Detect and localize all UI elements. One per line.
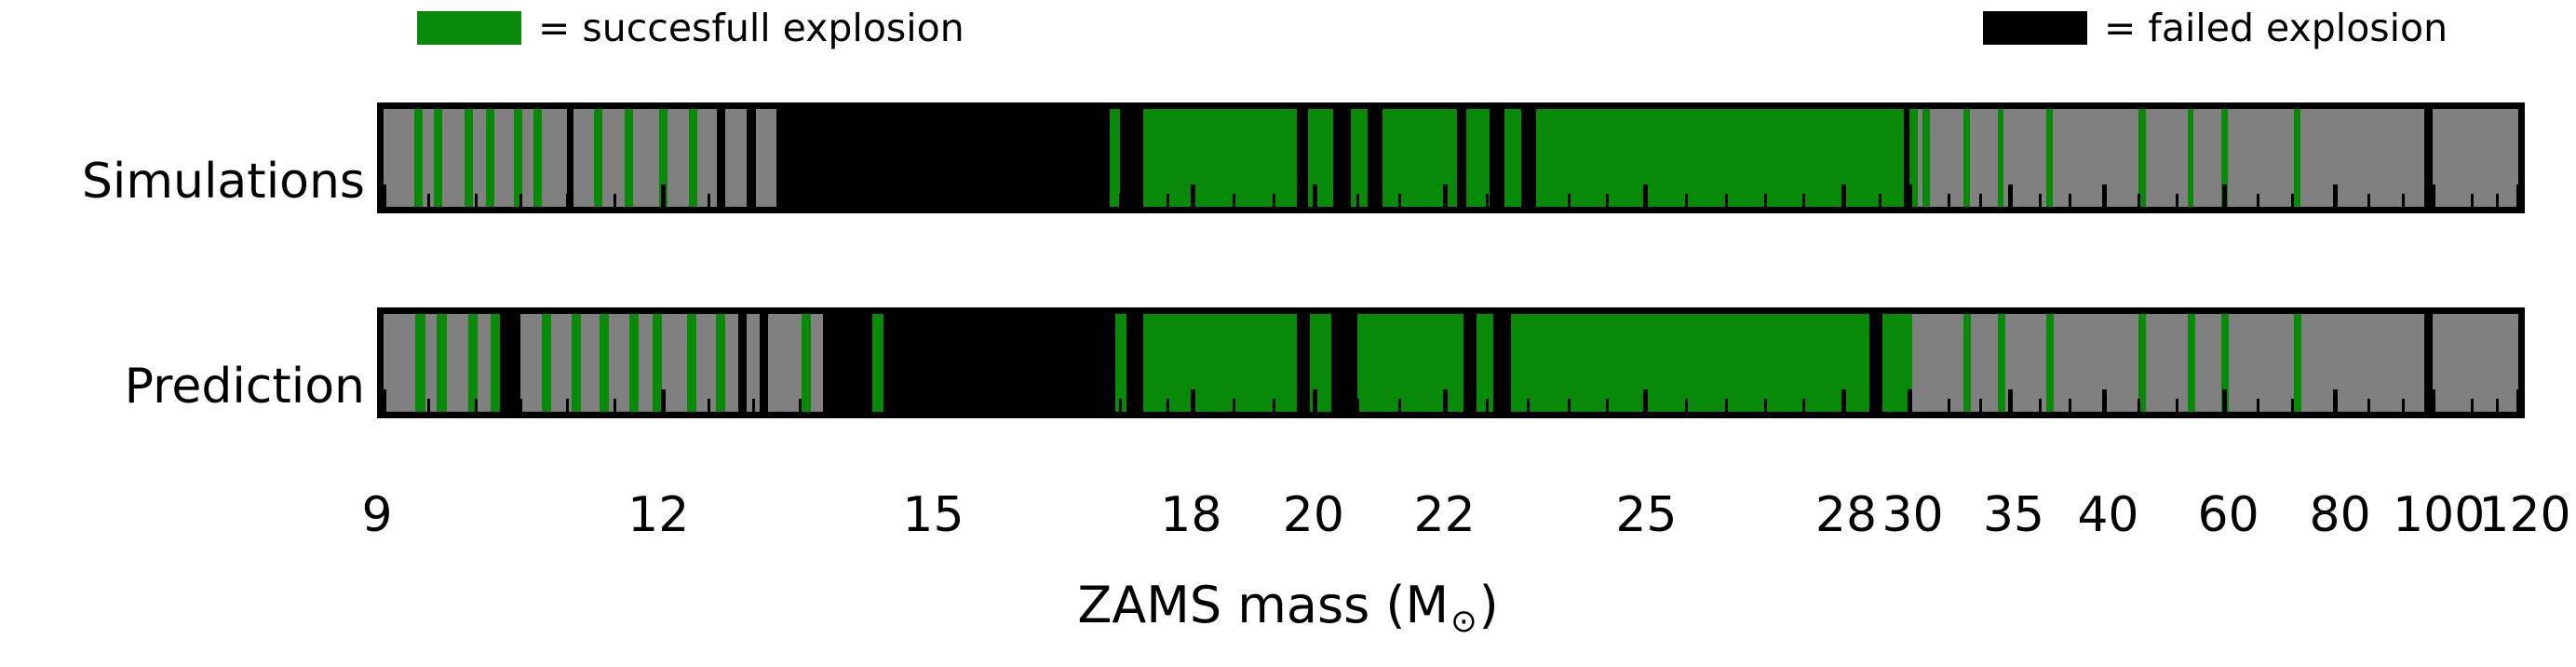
- minor-tick: [2257, 194, 2259, 207]
- x-tick-label: 80: [2310, 491, 2371, 539]
- outcome-band: [629, 314, 639, 412]
- x-tick-label: 9: [361, 491, 392, 539]
- outcome-band: [1463, 314, 1477, 412]
- major-tick: [661, 184, 666, 207]
- outcome-band: [716, 314, 725, 412]
- minor-tick: [614, 399, 616, 412]
- minor-tick: [1167, 194, 1169, 207]
- outcome-band: [434, 109, 442, 207]
- minor-tick: [2367, 194, 2370, 207]
- minor-tick: [1606, 399, 1609, 412]
- x-tick-label: 100: [2393, 491, 2485, 539]
- minor-tick: [1802, 399, 1805, 412]
- major-tick: [1908, 184, 1912, 207]
- legend-entry-failed: = failed explosion: [1983, 7, 2448, 48]
- major-tick: [1643, 184, 1648, 207]
- major-tick: [2333, 184, 2338, 207]
- outcome-band: [1331, 314, 1357, 412]
- outcome-band: [594, 109, 602, 207]
- major-tick: [1313, 184, 1317, 207]
- minor-tick: [614, 194, 616, 207]
- major-tick: [2516, 184, 2521, 207]
- outcome-band: [1963, 109, 1970, 207]
- outcome-band: [625, 109, 633, 207]
- minor-tick: [1879, 399, 1881, 412]
- outcome-band: [687, 314, 696, 412]
- outcome-band: [1521, 109, 1536, 207]
- minor-tick: [1119, 399, 1122, 412]
- minor-tick: [708, 399, 710, 412]
- x-tick-label: 15: [902, 491, 964, 539]
- major-tick: [1191, 184, 1195, 207]
- legend-swatch-failed: [1983, 11, 2087, 45]
- x-tick-label: 40: [2077, 491, 2138, 539]
- minor-tick: [1074, 399, 1077, 412]
- outcome-band: [2188, 109, 2194, 207]
- major-tick: [2102, 389, 2107, 412]
- outcome-band: [437, 314, 446, 412]
- major-tick: [2222, 389, 2227, 412]
- outcome-band: [1477, 314, 1493, 412]
- minor-tick: [1356, 194, 1359, 207]
- minor-tick: [799, 194, 802, 207]
- outcome-band: [1126, 314, 1143, 412]
- x-tick-label: 22: [1413, 491, 1475, 539]
- minor-tick: [1527, 399, 1530, 412]
- outcome-band: [1120, 109, 1143, 207]
- outcome-band: [1351, 109, 1368, 207]
- minor-tick: [2471, 194, 2474, 207]
- outcome-band: [514, 109, 522, 207]
- minor-tick: [2402, 399, 2405, 412]
- x-axis-title-close: ): [1479, 576, 1499, 634]
- figure-root: = succesfull explosion = failed explosio…: [0, 0, 2576, 667]
- minor-tick: [1233, 399, 1235, 412]
- outcome-band: [2138, 314, 2146, 412]
- minor-tick: [1486, 399, 1489, 412]
- minor-tick: [1167, 399, 1169, 412]
- major-tick: [1443, 389, 1448, 412]
- outcome-band: [468, 314, 478, 412]
- minor-tick: [2257, 399, 2259, 412]
- major-tick: [2008, 389, 2013, 412]
- outcome-band: [1333, 109, 1350, 207]
- minor-tick: [2367, 399, 2370, 412]
- minor-tick: [1979, 399, 1982, 412]
- major-tick: [2333, 389, 2338, 412]
- minor-tick: [475, 399, 478, 412]
- minor-tick: [1273, 194, 1275, 207]
- minor-tick: [1398, 194, 1401, 207]
- minor-tick: [2471, 399, 2474, 412]
- legend: = succesfull explosion = failed explosio…: [0, 7, 2576, 52]
- minor-tick: [566, 399, 569, 412]
- legend-label-successful: = succesfull explosion: [538, 9, 964, 48]
- outcome-band: [1922, 109, 1930, 207]
- minor-tick: [1027, 194, 1030, 207]
- minor-tick: [519, 194, 522, 207]
- minor-tick: [427, 399, 430, 412]
- outcome-band: [500, 314, 520, 412]
- minor-tick: [2039, 399, 2042, 412]
- minor-tick: [1074, 194, 1077, 207]
- minor-tick: [1356, 399, 1359, 412]
- minor-tick: [1119, 194, 1122, 207]
- minor-tick: [1233, 194, 1235, 207]
- strip-prediction: [377, 307, 2525, 418]
- outcome-band: [802, 314, 810, 412]
- legend-entry-successful: = succesfull explosion: [417, 7, 964, 48]
- x-tick-label: 12: [627, 491, 689, 539]
- outcome-band: [1504, 109, 1521, 207]
- minor-tick: [1948, 399, 1950, 412]
- minor-tick: [1764, 194, 1767, 207]
- outcome-band: [1490, 109, 1504, 207]
- outcome-band: [1297, 314, 1310, 412]
- outcome-band: [1963, 314, 1971, 412]
- minor-tick: [1398, 399, 1401, 412]
- minor-tick: [2039, 194, 2042, 207]
- minor-tick: [982, 194, 985, 207]
- minor-tick: [982, 399, 985, 412]
- outcome-band: [2046, 314, 2054, 412]
- outcome-band: [1115, 314, 1126, 412]
- major-tick: [661, 389, 666, 412]
- outcome-band: [1493, 314, 1510, 412]
- minor-tick: [891, 194, 894, 207]
- outcome-band: [572, 314, 581, 412]
- minor-tick: [1764, 399, 1767, 412]
- minor-tick: [1027, 399, 1030, 412]
- outcome-band: [533, 109, 542, 207]
- major-tick: [1841, 389, 1846, 412]
- solar-mass-subscript-icon: ⊙: [1449, 603, 1479, 640]
- outcome-band: [1357, 314, 1464, 412]
- outcome-band: [1466, 109, 1490, 207]
- minor-tick: [1568, 194, 1571, 207]
- outcome-band: [717, 109, 725, 207]
- outcome-band: [1143, 314, 1297, 412]
- x-tick-label: 30: [1881, 491, 1943, 539]
- outcome-band: [486, 109, 494, 207]
- x-tick-label: 35: [1983, 491, 2044, 539]
- outcome-band: [1143, 109, 1297, 207]
- outcome-band: [491, 314, 500, 412]
- minor-tick: [1879, 194, 1881, 207]
- minor-tick: [2069, 399, 2071, 412]
- outcome-band: [2294, 314, 2301, 412]
- minor-tick: [2176, 399, 2178, 412]
- minor-tick: [708, 194, 710, 207]
- row-label-prediction: Prediction: [0, 359, 365, 415]
- outcome-band: [689, 109, 697, 207]
- outcome-band: [823, 314, 872, 412]
- minor-tick: [566, 194, 569, 207]
- minor-tick: [2496, 399, 2499, 412]
- outcome-band: [1297, 109, 1307, 207]
- x-axis-title-main: ZAMS mass (M: [1077, 576, 1449, 634]
- outcome-band: [2294, 109, 2300, 207]
- strip-canvas-prediction: [384, 314, 2518, 412]
- outcome-band: [1536, 109, 1903, 207]
- major-tick: [1643, 389, 1648, 412]
- outcome-band: [1869, 314, 1882, 412]
- major-tick: [1443, 184, 1448, 207]
- major-tick: [1191, 389, 1195, 412]
- minor-tick: [2496, 194, 2499, 207]
- outcome-band: [1110, 109, 1120, 207]
- minor-tick: [1979, 194, 1982, 207]
- outcome-band: [883, 314, 1116, 412]
- outcome-band: [1998, 109, 2004, 207]
- x-tick-label: 28: [1815, 491, 1877, 539]
- outcome-band: [1457, 109, 1465, 207]
- legend-label-failed: = failed explosion: [2104, 9, 2448, 48]
- x-tick-label: 18: [1160, 491, 1221, 539]
- outcome-band: [2046, 109, 2053, 207]
- major-tick: [382, 184, 386, 207]
- major-tick: [2431, 389, 2435, 412]
- minor-tick: [1527, 194, 1530, 207]
- minor-tick: [2069, 194, 2071, 207]
- x-tick-label: 60: [2198, 491, 2259, 539]
- major-tick: [2008, 184, 2013, 207]
- major-tick: [2222, 184, 2227, 207]
- major-tick: [2431, 184, 2435, 207]
- strip-simulations: [377, 102, 2525, 213]
- legend-swatch-successful: [417, 11, 521, 45]
- outcome-band: [1511, 314, 1869, 412]
- outcome-band: [414, 109, 423, 207]
- minor-tick: [427, 194, 430, 207]
- outcome-band: [2138, 109, 2146, 207]
- outcome-band: [567, 109, 573, 207]
- outcome-band: [2188, 314, 2195, 412]
- strip-canvas-simulations: [384, 109, 2518, 207]
- minor-tick: [1606, 194, 1609, 207]
- outcome-band: [600, 314, 609, 412]
- major-tick: [1841, 184, 1846, 207]
- major-tick: [1313, 389, 1317, 412]
- major-tick: [1908, 389, 1912, 412]
- major-tick: [2516, 389, 2521, 412]
- minor-tick: [843, 194, 846, 207]
- outcome-band: [542, 314, 551, 412]
- minor-tick: [2402, 194, 2405, 207]
- minor-tick: [799, 399, 802, 412]
- minor-tick: [2291, 194, 2294, 207]
- minor-tick: [2176, 194, 2178, 207]
- major-tick: [935, 184, 939, 207]
- outcome-band: [747, 109, 756, 207]
- minor-tick: [1486, 194, 1489, 207]
- minor-tick: [891, 399, 894, 412]
- minor-tick: [519, 399, 522, 412]
- minor-tick: [2138, 194, 2140, 207]
- outcome-band: [465, 109, 473, 207]
- minor-tick: [752, 399, 755, 412]
- outcome-band: [776, 109, 1110, 207]
- minor-tick: [752, 194, 755, 207]
- x-tick-labels: 9121518202225283035406080100120: [377, 491, 2525, 556]
- outcome-band: [415, 314, 425, 412]
- outcome-band: [1368, 109, 1382, 207]
- minor-tick: [1802, 194, 1805, 207]
- row-label-simulations: Simulations: [0, 154, 365, 210]
- outcome-band: [738, 314, 747, 412]
- minor-tick: [1948, 194, 1950, 207]
- outcome-band: [872, 314, 883, 412]
- minor-tick: [1273, 399, 1275, 412]
- x-tick-label: 20: [1283, 491, 1344, 539]
- outcome-band: [760, 314, 768, 412]
- minor-tick: [1685, 399, 1688, 412]
- minor-tick: [2138, 399, 2140, 412]
- minor-tick: [1568, 399, 1571, 412]
- outcome-band: [1998, 314, 2005, 412]
- major-tick: [2102, 184, 2107, 207]
- minor-tick: [2291, 399, 2294, 412]
- major-tick: [382, 389, 386, 412]
- major-tick: [935, 389, 939, 412]
- minor-tick: [1725, 194, 1728, 207]
- x-axis-title: ZAMS mass (M⊙): [0, 576, 2576, 640]
- minor-tick: [1685, 194, 1688, 207]
- minor-tick: [1725, 399, 1728, 412]
- minor-tick: [843, 399, 846, 412]
- x-tick-label: 25: [1615, 491, 1677, 539]
- x-tick-label: 120: [2478, 491, 2570, 539]
- minor-tick: [475, 194, 478, 207]
